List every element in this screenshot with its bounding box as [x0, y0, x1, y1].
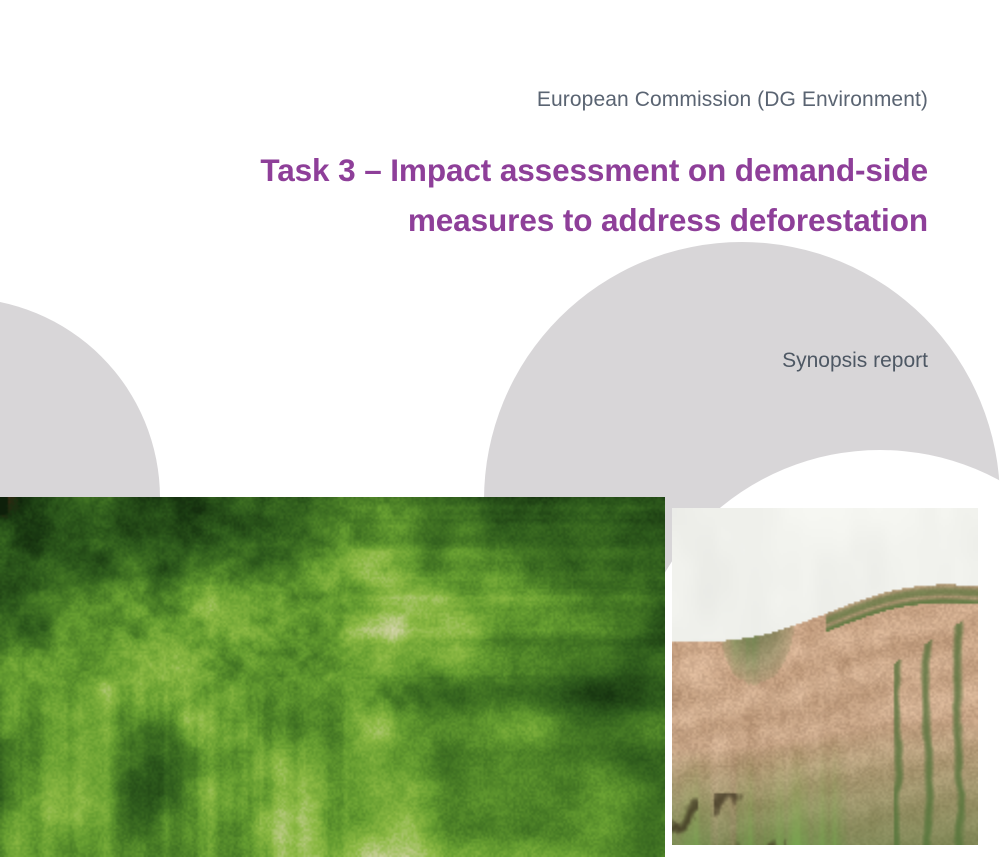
page-title-line-1: Task 3 – Impact assessment on demand-sid…: [0, 145, 928, 195]
document-cover-page: European Commission (DG Environment) Tas…: [0, 0, 1000, 857]
organisation-line: European Commission (DG Environment): [0, 86, 928, 114]
deforested-hillside-image: [672, 508, 978, 845]
forest-canopy-photo: [0, 497, 665, 857]
page-title: Task 3 – Impact assessment on demand-sid…: [0, 145, 928, 245]
deforested-hillside-photo: [672, 508, 978, 845]
document-subtitle: Synopsis report: [0, 347, 928, 375]
page-title-line-2: measures to address deforestation: [0, 195, 928, 245]
forest-canopy-image: [0, 497, 665, 857]
